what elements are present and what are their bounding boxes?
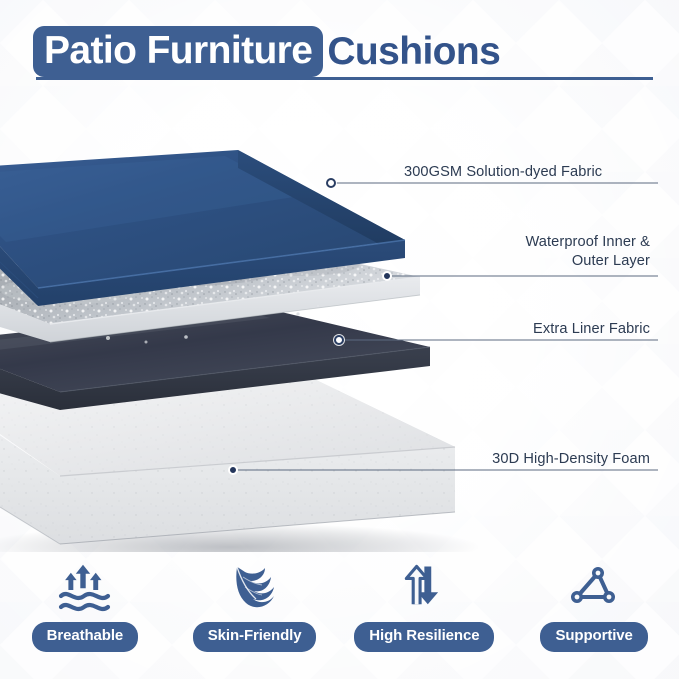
feature-breathable[interactable]: Breathable [0,552,170,652]
feature-label-breathable[interactable]: Breathable [32,622,139,652]
up-down-arrows-icon [399,562,449,614]
callout-label-foam: 30D High-Density Foam [380,450,650,469]
feature-high-resilience[interactable]: High Resilience [340,552,510,652]
title-underline [36,77,653,80]
feather-icon [229,562,281,614]
triangle-nodes-icon [568,562,620,614]
feature-badges: Breathable Skin-Friendly [0,552,679,679]
infographic-stage: Patio Furniture Cushions [0,0,679,679]
cushion-layers-illustration: 300GSM Solution-dyed Fabric Waterproof I… [0,92,679,552]
feature-label-supportive[interactable]: Supportive [540,622,647,652]
feature-label-skin-friendly[interactable]: Skin-Friendly [193,622,317,652]
feature-label-high-resilience[interactable]: High Resilience [354,622,494,652]
feature-skin-friendly[interactable]: Skin-Friendly [170,552,340,652]
title-rest-text: Cushions [327,32,500,71]
feature-supportive[interactable]: Supportive [509,552,679,652]
callout-foam: 30D High-Density Foam [0,92,679,552]
arrows-over-waves-icon [56,562,114,614]
title-highlight-text: Patio Furniture [44,31,312,70]
page-title: Patio Furniture Cushions [0,0,679,92]
title-row: Patio Furniture Cushions [33,26,500,77]
callout-marker-foam [228,465,238,475]
title-highlight-badge: Patio Furniture [33,26,323,77]
